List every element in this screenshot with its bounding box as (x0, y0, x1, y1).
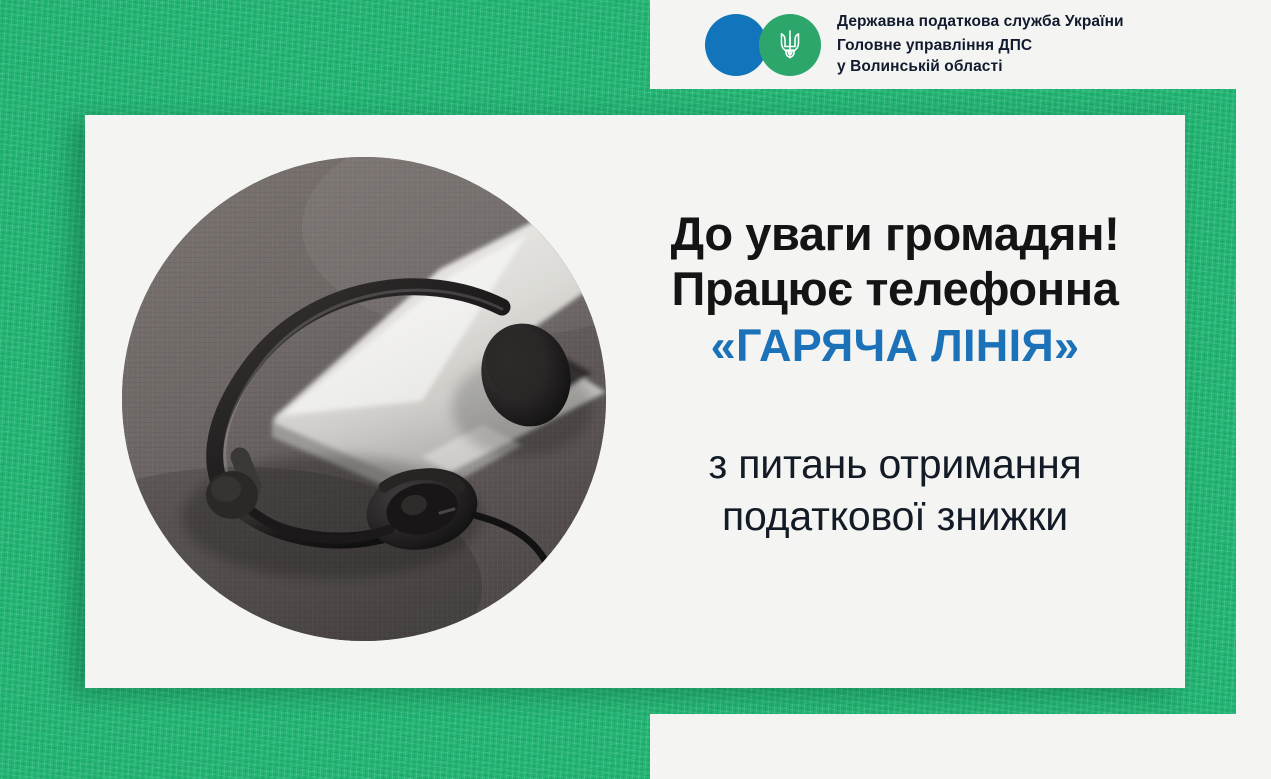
right-edge-offwhite-strip (1236, 0, 1271, 779)
org-line-2: Головне управління ДПС (837, 36, 1124, 57)
headset-laptop-photo (122, 157, 606, 641)
page-title: До уваги громадян! Працює телефонна «ГАР… (615, 207, 1175, 372)
hotline-label: «ГАРЯЧА ЛІНІЯ» (615, 320, 1175, 372)
logo-lockup (705, 14, 823, 76)
org-line-1: Державна податкова служба України (837, 11, 1124, 33)
headline-line-1: До уваги громадян! (615, 207, 1175, 262)
content-card: До уваги громадян! Працює телефонна «ГАР… (85, 115, 1185, 688)
bottom-right-offwhite-panel (650, 714, 1271, 779)
subtitle-line-1: з питань отримання (615, 438, 1175, 490)
brand-header: Державна податкова служба України Головн… (650, 0, 1271, 89)
subtitle: з питань отримання податкової знижки (615, 438, 1175, 542)
message-block: До уваги громадян! Працює телефонна «ГАР… (615, 207, 1175, 542)
subtitle-line-2: податкової знижки (615, 490, 1175, 542)
headline-line-2: Працює телефонна (615, 262, 1175, 317)
blue-circle-mark (705, 14, 767, 76)
poster-canvas: Державна податкова служба України Головн… (0, 0, 1271, 779)
organization-name: Державна податкова служба України Головн… (837, 11, 1124, 78)
ukraine-trident-icon (775, 28, 805, 62)
green-circle-mark (759, 14, 821, 76)
org-line-3: у Волинській області (837, 57, 1124, 78)
